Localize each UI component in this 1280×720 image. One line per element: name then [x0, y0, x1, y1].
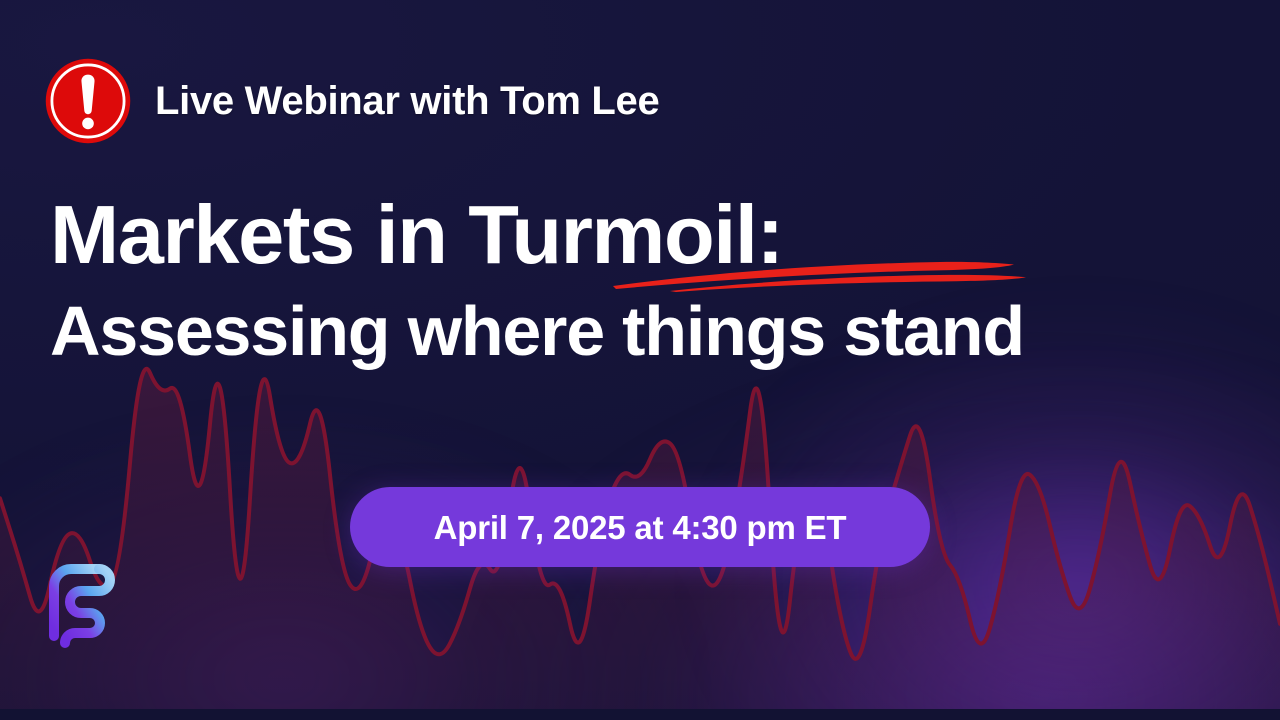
eyebrow-row: Live Webinar with Tom Lee [44, 57, 659, 145]
webinar-datetime-label: April 7, 2025 at 4:30 pm ET [434, 511, 847, 544]
headline-block: Markets in Turmoil: Assessing where thin… [50, 193, 1024, 366]
headline-line-1-wrapper: Markets in Turmoil: [50, 193, 783, 276]
headline-line-2: Assessing where things stand [50, 296, 1024, 366]
webinar-promo-poster: Live Webinar with Tom Lee Markets in Tur… [0, 0, 1280, 720]
alert-exclamation-circle-icon [44, 57, 132, 145]
eyebrow-label: Live Webinar with Tom Lee [155, 81, 659, 121]
fundstrat-fs-monogram-logo [41, 556, 125, 648]
webinar-datetime-button[interactable]: April 7, 2025 at 4:30 pm ET [350, 487, 930, 567]
poster-content: Live Webinar with Tom Lee Markets in Tur… [0, 0, 1280, 720]
headline-line-1: Markets in Turmoil: [50, 188, 783, 281]
